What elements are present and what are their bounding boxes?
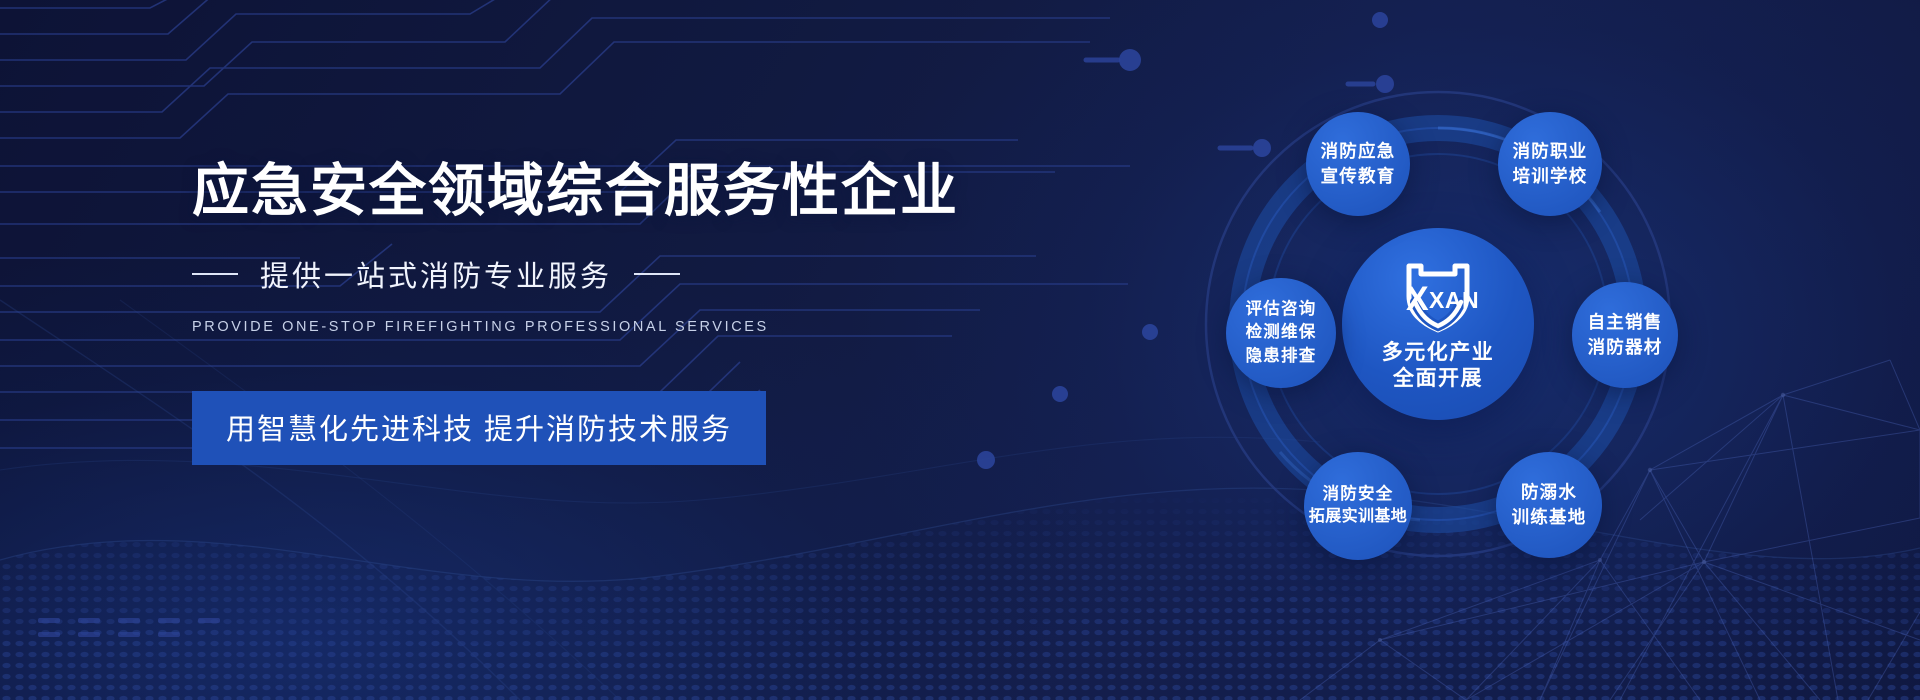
hero-subtitle: 提供一站式消防专业服务 (260, 253, 612, 295)
subtitle-row: 提供一站式消防专业服务 (192, 253, 932, 295)
services-ring-diagram: X XAN 多元化产业 全面开展 消防应急 宣传教育 消防职业 培训学校 评估咨… (1120, 60, 1760, 640)
svg-text:XAN: XAN (1429, 287, 1479, 313)
bubble-0-line-2: 宣传教育 (1321, 164, 1396, 189)
rule-right-icon (634, 273, 680, 275)
center-line-2: 全面开展 (1382, 366, 1495, 392)
bubble-4-line-1: 消防安全 (1323, 483, 1394, 506)
bubble-2-line-2: 检测维保 (1246, 321, 1317, 344)
shield-logo-icon: X XAN (1395, 256, 1481, 334)
service-bubble-anti-drowning-base[interactable]: 防溺水 训练基地 (1496, 452, 1602, 558)
service-bubble-vocational-training-school[interactable]: 消防职业 培训学校 (1498, 112, 1602, 216)
service-bubble-safety-training-base[interactable]: 消防安全 拓展实训基地 (1304, 452, 1412, 560)
center-node[interactable]: X XAN 多元化产业 全面开展 (1342, 228, 1534, 420)
rule-left-icon (192, 273, 238, 275)
hero-english-subtitle: PROVIDE ONE-STOP FIREFIGHTING PROFESSION… (192, 319, 932, 335)
cta-banner-button[interactable]: 用智慧化先进科技 提升消防技术服务 (192, 391, 766, 465)
svg-text:X: X (1406, 280, 1429, 318)
bubble-3-line-2: 消防器材 (1588, 335, 1663, 360)
bubble-3-line-1: 自主销售 (1588, 310, 1663, 335)
center-node-labels: 多元化产业 全面开展 (1382, 340, 1495, 393)
center-line-1: 多元化产业 (1382, 340, 1495, 366)
bubble-0-line-1: 消防应急 (1321, 139, 1396, 164)
bubble-5-line-2: 训练基地 (1512, 505, 1587, 530)
bubble-5-line-1: 防溺水 (1521, 480, 1577, 505)
service-bubble-fire-emergency-education[interactable]: 消防应急 宣传教育 (1306, 112, 1410, 216)
hero-banner: 应急安全领域综合服务性企业 提供一站式消防专业服务 PROVIDE ONE-ST… (0, 0, 1920, 700)
bubble-1-line-1: 消防职业 (1513, 139, 1588, 164)
service-bubble-assessment-inspection[interactable]: 评估咨询 检测维保 隐患排查 (1226, 278, 1336, 388)
hero-copy: 应急安全领域综合服务性企业 提供一站式消防专业服务 PROVIDE ONE-ST… (192, 160, 932, 465)
cta-label: 用智慧化先进科技 提升消防技术服务 (226, 406, 732, 448)
bubble-2-line-3: 隐患排查 (1246, 345, 1317, 368)
bubble-4-line-2: 拓展实训基地 (1309, 506, 1407, 529)
page-title: 应急安全领域综合服务性企业 (192, 160, 932, 223)
bubble-1-line-2: 培训学校 (1513, 164, 1588, 189)
bubble-2-line-1: 评估咨询 (1246, 298, 1317, 321)
service-bubble-equipment-sales[interactable]: 自主销售 消防器材 (1572, 282, 1678, 388)
